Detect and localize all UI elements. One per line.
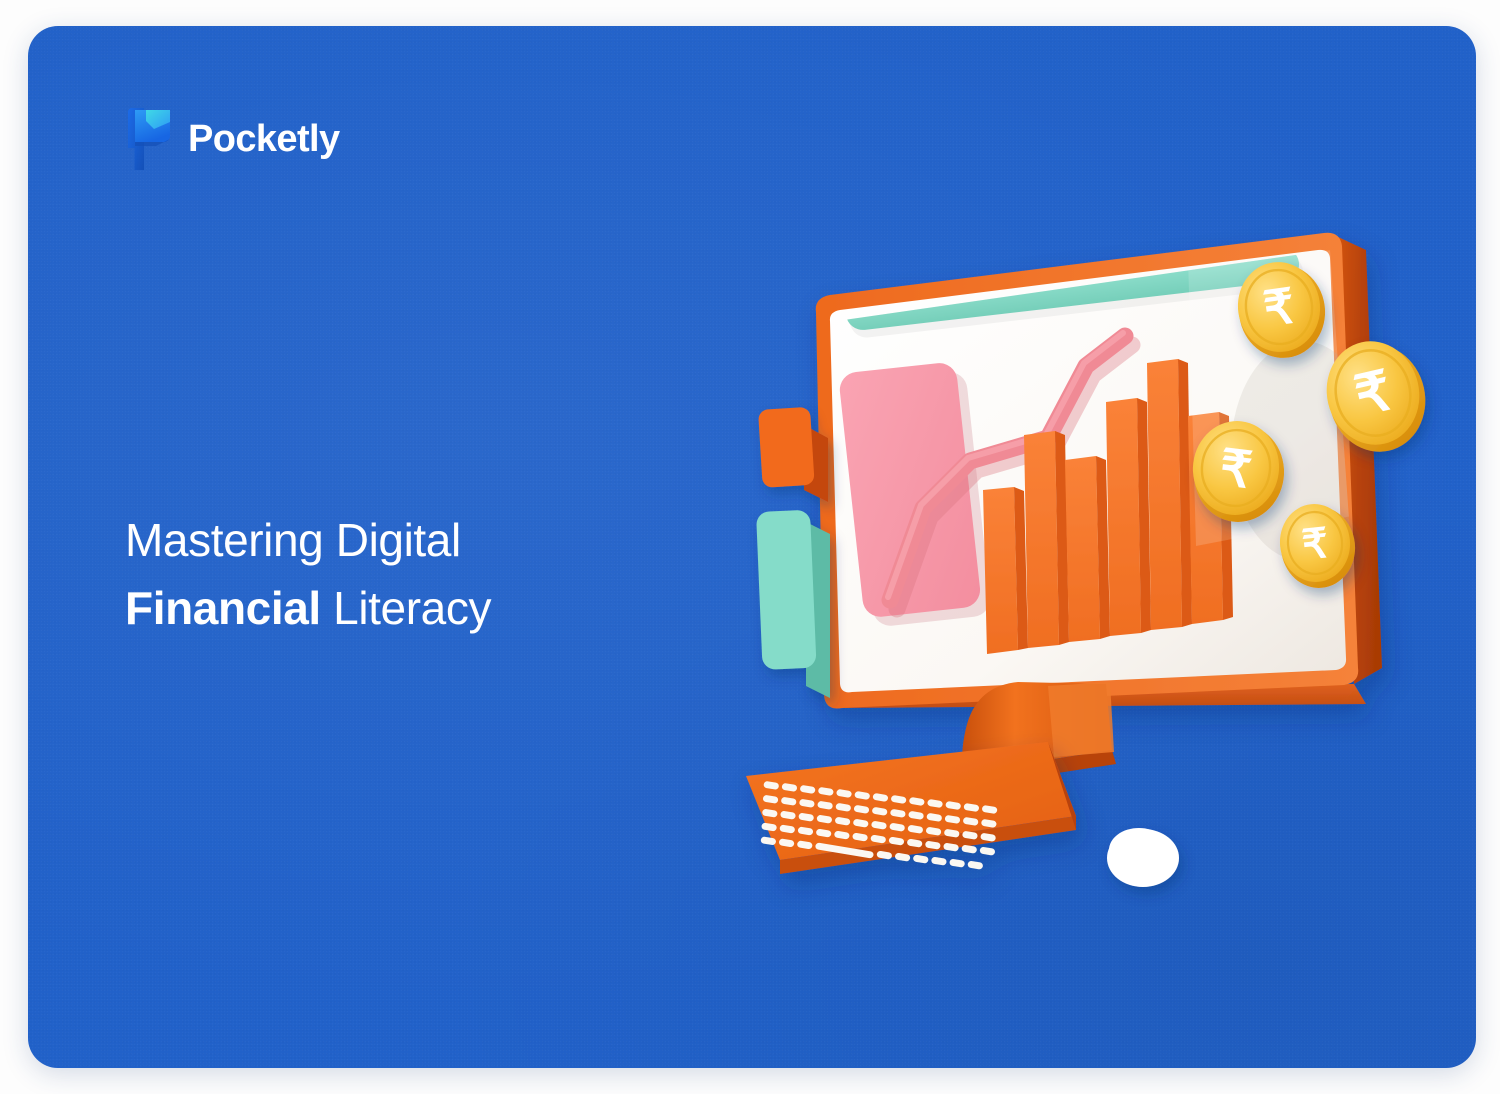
svg-text:₹: ₹ (1300, 520, 1331, 568)
desktop-computer-illustration: ₹ ₹ ₹ ₹ (718, 216, 1476, 936)
bar-1 (983, 487, 1028, 654)
svg-text:₹: ₹ (1217, 439, 1255, 498)
headline-line-1: Mastering Digital (125, 506, 491, 574)
headline-emphasis: Financial (125, 582, 321, 634)
screenshot-stage: Pocketly Mastering Digital Financial Lit… (0, 0, 1500, 1094)
headline-line-2: Financial Literacy (125, 574, 491, 642)
headline-line-2-rest: Literacy (321, 582, 491, 634)
hero-illustration: ₹ ₹ ₹ ₹ (718, 216, 1476, 936)
bar-2 (1024, 431, 1069, 648)
page-title: Mastering Digital Financial Literacy (125, 506, 491, 642)
mouse (1107, 828, 1179, 887)
pocketly-p-logo-icon (126, 108, 172, 170)
hero-card: Pocketly Mastering Digital Financial Lit… (28, 26, 1476, 1068)
floating-orange-chip (758, 407, 828, 502)
floating-teal-chip (756, 510, 830, 698)
keyboard (746, 742, 1076, 881)
bar-5 (1147, 359, 1192, 630)
brand-logo[interactable]: Pocketly (126, 108, 340, 170)
bar-3 (1065, 456, 1110, 642)
bar-4 (1106, 398, 1151, 636)
brand-wordmark: Pocketly (188, 120, 340, 158)
